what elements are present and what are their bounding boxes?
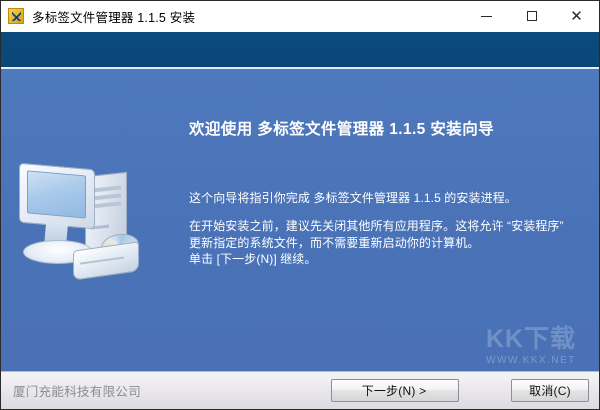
installer-box-icon: [8, 8, 24, 24]
welcome-panel: 欢迎使用 多标签文件管理器 1.1.5 安装向导 这个向导将指引你完成 多标签文…: [1, 32, 599, 371]
monitor-icon: [19, 163, 95, 230]
welcome-paragraph-2: 在开始安装之前，建议先关闭其他所有应用程序。这将允许 “安装程序” 更新指定的系…: [189, 218, 571, 252]
welcome-paragraph-1: 这个向导将指引你完成 多标签文件管理器 1.1.5 的安装进程。: [189, 190, 571, 207]
minimize-button[interactable]: [464, 1, 509, 31]
minimize-icon: [481, 16, 492, 17]
panel-top-band: [1, 32, 599, 67]
close-button[interactable]: ✕: [554, 1, 599, 31]
maximize-icon: [527, 11, 537, 21]
title-bar[interactable]: 多标签文件管理器 1.1.5 安装 ✕: [1, 1, 599, 32]
footer-bar: 厦门充能科技有限公司 下一步(N) > 取消(C): [1, 371, 599, 409]
window-title: 多标签文件管理器 1.1.5 安装: [32, 7, 464, 26]
cancel-button[interactable]: 取消(C): [511, 379, 589, 402]
welcome-paragraph-3: 单击 [下一步(N)] 继续。: [189, 251, 571, 268]
close-icon: ✕: [570, 9, 583, 24]
monitor-screen: [27, 170, 86, 218]
company-name: 厦门充能科技有限公司: [13, 381, 141, 400]
next-button[interactable]: 下一步(N) >: [331, 379, 459, 402]
computer-illustration-icon: [9, 160, 159, 300]
maximize-button[interactable]: [509, 1, 554, 31]
welcome-heading: 欢迎使用 多标签文件管理器 1.1.5 安装向导: [189, 120, 579, 140]
window-controls: ✕: [464, 1, 599, 31]
installer-window: 多标签文件管理器 1.1.5 安装 ✕ 欢迎使: [0, 0, 600, 410]
